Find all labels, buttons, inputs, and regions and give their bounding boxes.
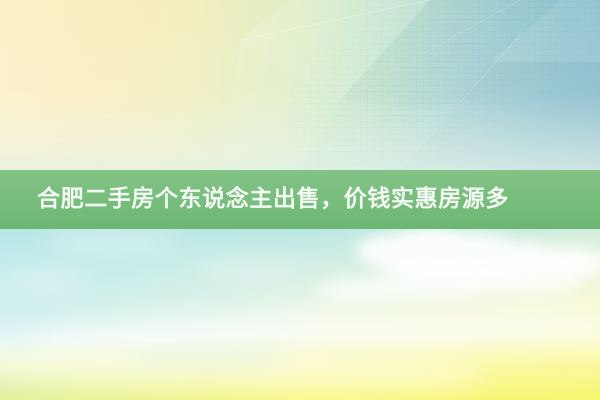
- top-gradient-section: [0, 0, 600, 170]
- page-title: 合肥二手房个东说念主出售，价钱实惠房源多: [37, 188, 509, 211]
- sky-yellow-wash: [0, 229, 600, 400]
- article-title-band: 合肥二手房个东说念主出售，价钱实惠房源多: [0, 170, 600, 229]
- top-light-wash: [0, 0, 600, 170]
- article-header-banner: 合肥二手房个东说念主出售，价钱实惠房源多: [0, 0, 600, 400]
- sky-gradient-section: [0, 229, 600, 400]
